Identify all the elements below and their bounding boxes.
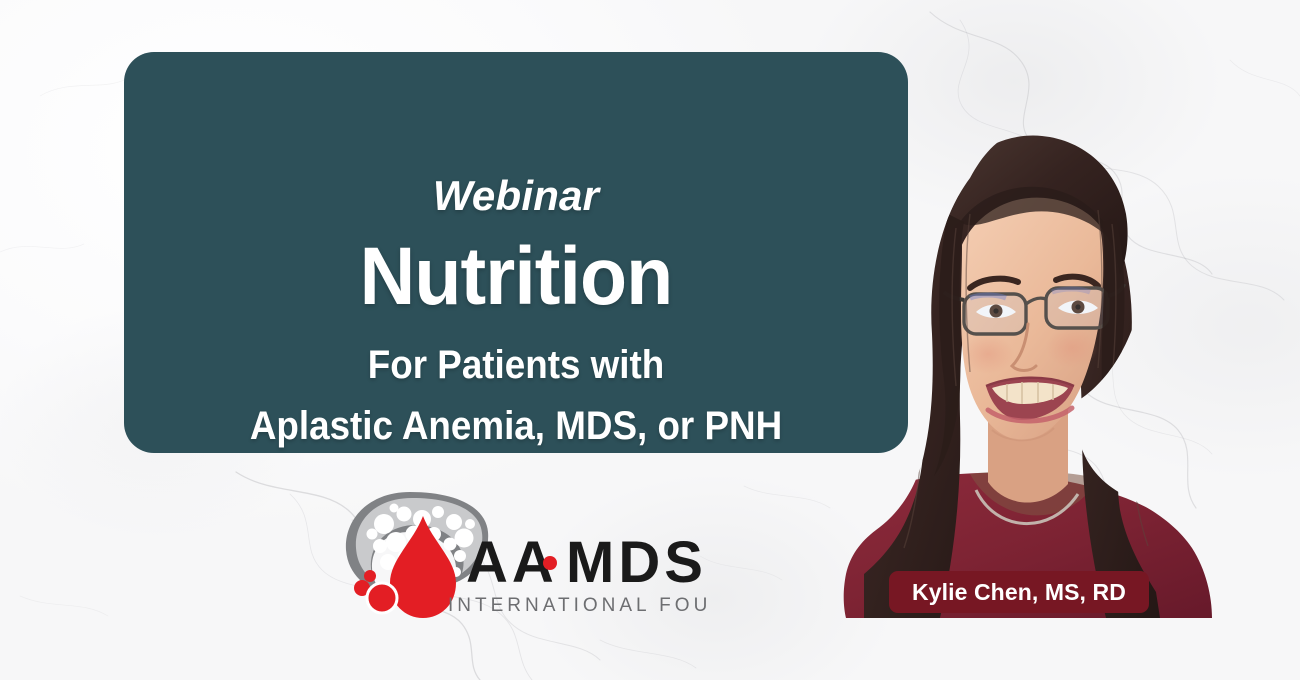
wordmark-dot-separator [543, 556, 557, 570]
subtitle-line-two: Aplastic Anemia, MDS, or PNH [155, 404, 876, 449]
promo-graphic-canvas: Webinar Nutrition For Patients with Apla… [0, 0, 1300, 680]
mouth [986, 378, 1074, 421]
speaker-name-badge: Kylie Chen, MS, RD [889, 571, 1149, 613]
page-title: Nutrition [148, 230, 885, 324]
wordmark-mds: MDS [566, 530, 707, 595]
logo-wordmark: AA MDS INTERNATIONAL FOUNDATION [448, 530, 710, 616]
speaker-portrait [820, 118, 1240, 618]
title-card: Webinar Nutrition For Patients with Apla… [124, 52, 908, 453]
webinar-kicker: Webinar [124, 172, 908, 220]
aamds-logo[interactable]: AA MDS INTERNATIONAL FOUNDATION [338, 484, 710, 624]
logo-tagline: INTERNATIONAL FOUNDATION [448, 595, 710, 616]
subtitle-line-one: For Patients with [155, 343, 876, 388]
